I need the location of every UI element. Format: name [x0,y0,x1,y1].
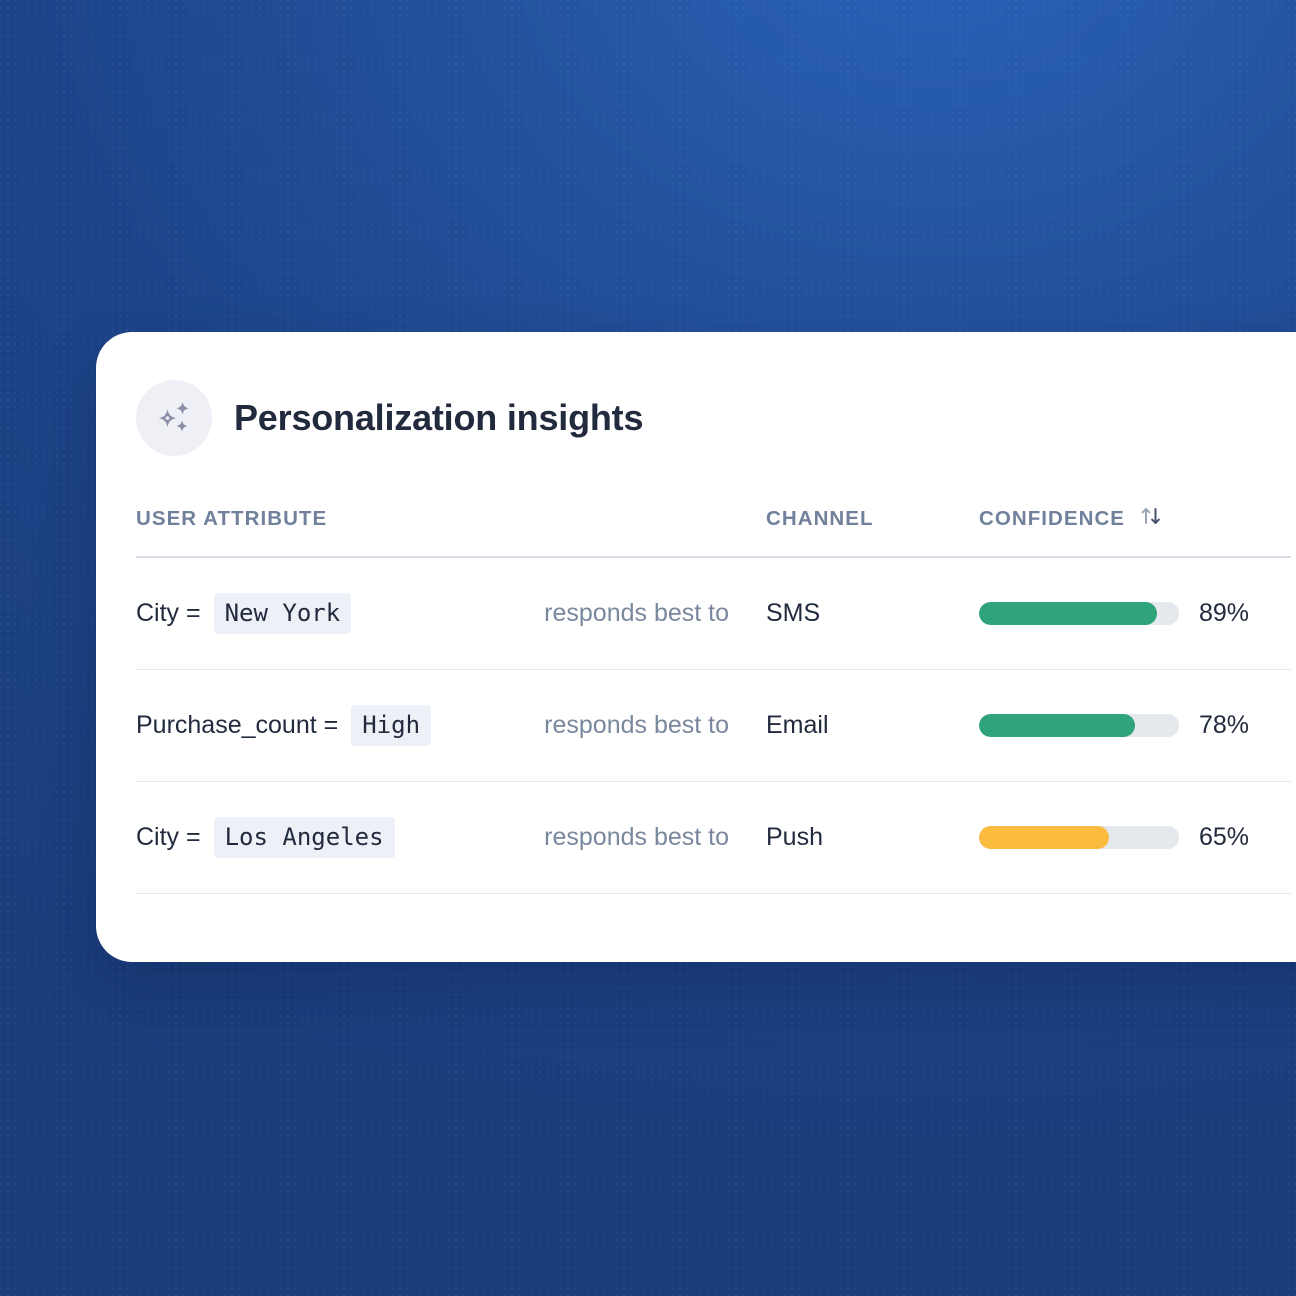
attribute-phrase: responds best to [544,823,766,852]
confidence-value: 89% [1199,599,1249,628]
column-header-confidence[interactable]: CONFIDENCE [979,503,1291,534]
cell-confidence: 89% [979,599,1291,628]
attribute-value-chip: High [351,705,431,746]
column-header-label: USER ATTRIBUTE [136,507,327,531]
cell-channel: Push [766,823,979,852]
cell-channel: SMS [766,599,979,628]
cell-user-attribute: City = Los Angeles responds best to [136,817,766,858]
confidence-value: 78% [1199,711,1249,740]
attribute-key: Purchase_count = [136,711,338,740]
page-title: Personalization insights [234,400,643,436]
table-row[interactable]: City = New York responds best to SMS 89% [136,558,1291,670]
cell-user-attribute: City = New York responds best to [136,593,766,634]
sort-updown-icon[interactable] [1138,503,1164,534]
confidence-bar-fill [979,826,1109,849]
attribute-value-chip: Los Angeles [214,817,395,858]
column-header-label: CHANNEL [766,507,874,530]
confidence-value: 65% [1199,823,1249,852]
attribute-phrase: responds best to [544,599,766,628]
attribute-key: City = [136,823,201,852]
attribute-key: City = [136,599,201,628]
attribute-phrase: responds best to [544,711,766,740]
column-header-user-attribute[interactable]: USER ATTRIBUTE [136,507,766,531]
confidence-bar-fill [979,602,1157,625]
sparkles-icon [136,380,212,456]
confidence-bar-track [979,602,1179,625]
table-row[interactable]: City = Los Angeles responds best to Push… [136,782,1291,894]
attribute-value-chip: New York [214,593,352,634]
table-row[interactable]: Purchase_count = High responds best to E… [136,670,1291,782]
confidence-bar-fill [979,714,1135,737]
cell-confidence: 65% [979,823,1291,852]
column-header-channel[interactable]: CHANNEL [766,507,979,531]
insights-table: USER ATTRIBUTE CHANNEL CONFIDENCE [96,503,1296,894]
confidence-bar-track [979,714,1179,737]
channel-label: SMS [766,599,820,627]
table-header-row: USER ATTRIBUTE CHANNEL CONFIDENCE [136,503,1291,558]
channel-label: Email [766,711,829,739]
cell-channel: Email [766,711,979,740]
personalization-insights-card: Personalization insights USER ATTRIBUTE … [96,332,1296,962]
confidence-bar-track [979,826,1179,849]
channel-label: Push [766,823,823,851]
cell-confidence: 78% [979,711,1291,740]
card-header: Personalization insights [96,332,1296,456]
column-header-label: CONFIDENCE [979,507,1125,531]
cell-user-attribute: Purchase_count = High responds best to [136,705,766,746]
